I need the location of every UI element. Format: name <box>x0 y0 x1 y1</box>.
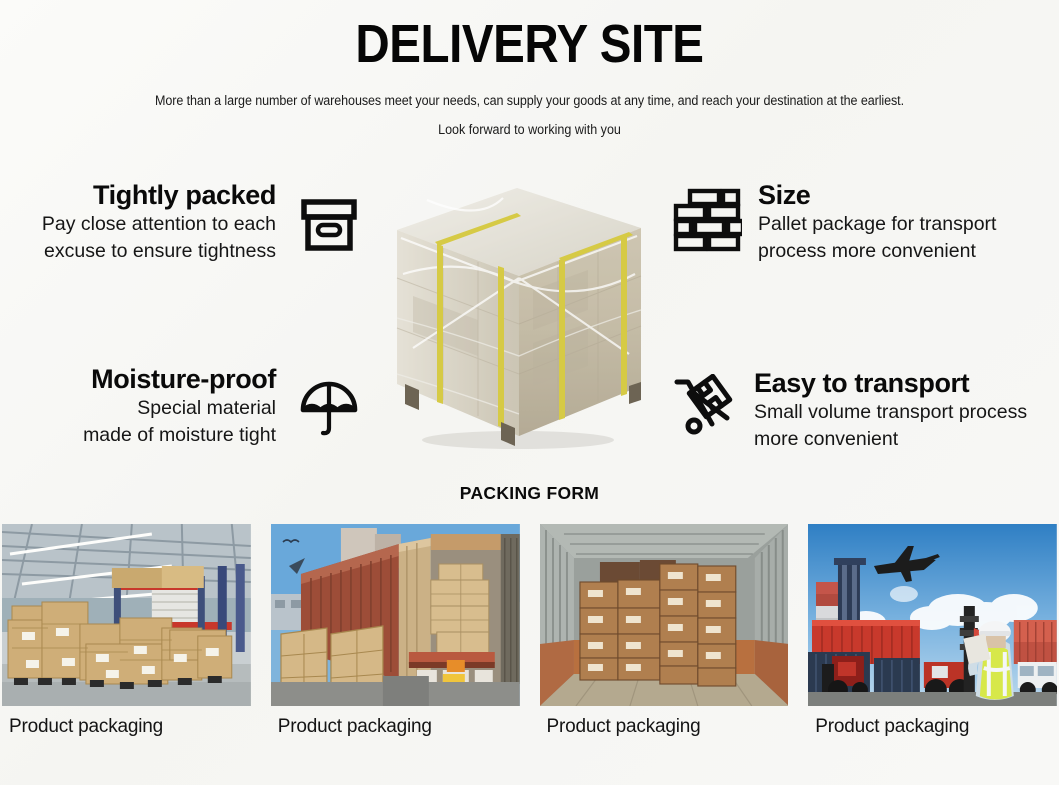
feature-body-line-1: Small volume transport process <box>754 401 1027 424</box>
umbrella-icon <box>298 378 360 445</box>
photo-warehouse-interior[interactable] <box>2 524 251 706</box>
feature-body-line-1: Pay close attention to each <box>0 213 276 236</box>
wrapped-pallet-illustration <box>383 178 653 450</box>
feature-body-line-2: made of moisture tight <box>0 424 276 447</box>
feature-size: Size Pallet package for transport proces… <box>672 180 1059 263</box>
feature-easy-to-transport: Easy to transport Small volume transport… <box>672 368 1059 451</box>
feature-text-block: Size Pallet package for transport proces… <box>758 180 996 263</box>
photo-container-interior[interactable] <box>540 524 789 706</box>
feature-heading: Moisture-proof <box>0 364 276 394</box>
feature-heading: Tightly packed <box>0 180 276 210</box>
feature-body-line-2: more convenient <box>754 428 1027 451</box>
feature-tightly-packed: Tightly packed Pay close attention to ea… <box>0 180 360 263</box>
feature-text-block: Moisture-proof Special material made of … <box>0 364 276 447</box>
photo-container-loading[interactable] <box>271 524 520 706</box>
packing-form-heading: PACKING FORM <box>0 483 1059 504</box>
gallery-captions: Product packaging Product packaging Prod… <box>2 716 1057 738</box>
brick-wall-icon <box>672 186 742 257</box>
feature-text-block: Easy to transport Small volume transport… <box>754 368 1027 451</box>
photo-caption: Product packaging <box>2 716 251 738</box>
header-subtitle-line-1: More than a large number of warehouses m… <box>37 93 1022 108</box>
feature-heading: Easy to transport <box>754 368 1027 398</box>
feature-body-line-1: Special material <box>0 397 276 420</box>
feature-moisture-proof: Moisture-proof Special material made of … <box>0 364 360 447</box>
archive-box-icon <box>298 194 360 261</box>
photo-caption: Product packaging <box>808 716 1057 738</box>
feature-body-line-1: Pallet package for transport <box>758 213 996 236</box>
hand-truck-icon <box>672 374 738 441</box>
page-title: DELIVERY SITE <box>64 16 996 73</box>
gallery <box>2 524 1057 706</box>
wrapped-pallet-image <box>383 178 653 450</box>
feature-body-line-2: excuse to ensure tightness <box>0 240 276 263</box>
photo-caption: Product packaging <box>540 716 789 738</box>
feature-body-line-2: process more convenient <box>758 240 996 263</box>
header-subtitle-line-2: Look forward to working with you <box>37 122 1022 137</box>
header: DELIVERY SITE More than a large number o… <box>0 0 1059 137</box>
delivery-site-banner: DELIVERY SITE More than a large number o… <box>0 0 1059 785</box>
photo-caption: Product packaging <box>271 716 520 738</box>
feature-heading: Size <box>758 180 996 210</box>
photo-port-yard[interactable] <box>808 524 1057 706</box>
feature-text-block: Tightly packed Pay close attention to ea… <box>0 180 276 263</box>
